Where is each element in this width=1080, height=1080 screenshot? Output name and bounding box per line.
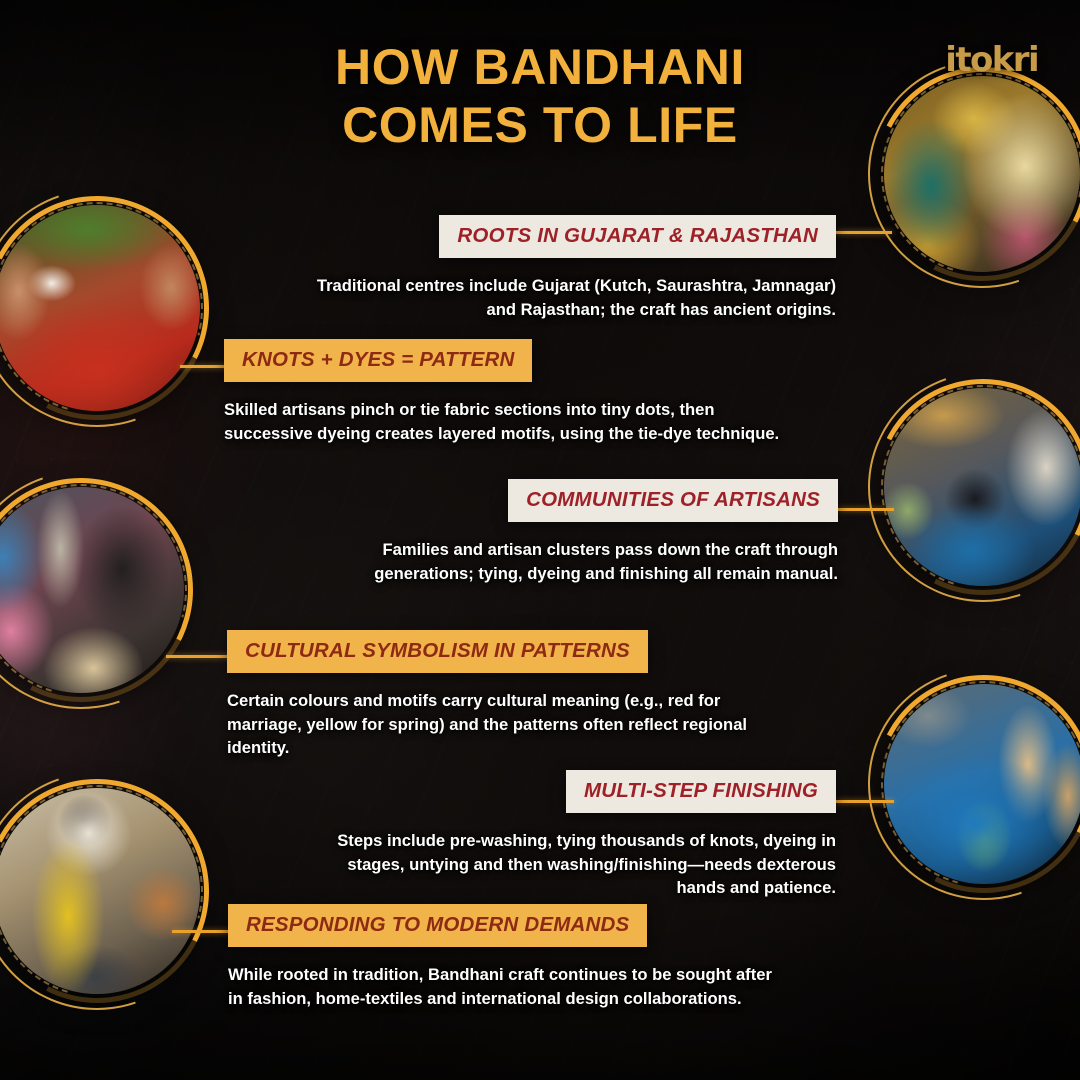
itokri-logo[interactable]: itokri xyxy=(945,40,1038,80)
logo-wordmark: itokri xyxy=(945,40,1038,80)
photo-disc xyxy=(0,487,184,693)
section-symbolism: CULTURAL SYMBOLISM IN PATTERNS Certain c… xyxy=(227,630,787,760)
photo-women-knotting-cloth-left xyxy=(0,487,184,693)
section-heading-symbolism[interactable]: CULTURAL SYMBOLISM IN PATTERNS xyxy=(227,630,648,673)
photo-hands-tying-red-fabric-left xyxy=(0,205,200,411)
photo-disc xyxy=(0,788,200,994)
photo-image xyxy=(884,684,1080,884)
section-body-knots-dyes: Skilled artisans pinch or tie fabric sec… xyxy=(224,398,784,445)
photo-image xyxy=(0,788,200,994)
connector-roots xyxy=(836,231,892,234)
section-modern-demands: RESPONDING TO MODERN DEMANDS While roote… xyxy=(228,904,788,1010)
section-body-finishing: Steps include pre-washing, tying thousan… xyxy=(310,829,836,900)
section-body-roots: Traditional centres include Gujarat (Kut… xyxy=(300,274,836,321)
photo-disc xyxy=(884,388,1080,586)
connector-symbolism xyxy=(166,655,232,658)
section-heading-communities[interactable]: COMMUNITIES OF ARTISANS xyxy=(508,479,838,522)
section-heading-knots-dyes[interactable]: KNOTS + DYES = PATTERN xyxy=(224,339,532,382)
section-body-communities: Families and artisan clusters pass down … xyxy=(300,538,838,585)
photo-dyer-lifting-yellow-cloth-left xyxy=(0,788,200,994)
section-roots: ROOTS IN GUJARAT & RAJASTHAN Traditional… xyxy=(300,215,836,321)
connector-modern xyxy=(172,930,230,933)
section-body-symbolism: Certain colours and motifs carry cultura… xyxy=(227,689,787,760)
connector-finishing xyxy=(836,800,894,803)
section-body-modern-demands: While rooted in tradition, Bandhani craf… xyxy=(228,963,788,1010)
title-line-2: COMES TO LIFE xyxy=(0,96,1080,154)
section-knots-dyes: KNOTS + DYES = PATTERN Skilled artisans … xyxy=(224,339,784,445)
section-finishing: MULTI-STEP FINISHING Steps include pre-w… xyxy=(310,770,836,900)
section-communities: COMMUNITIES OF ARTISANS Families and art… xyxy=(300,479,838,585)
photo-image xyxy=(884,388,1080,586)
photo-disc xyxy=(0,205,200,411)
title-line-1: HOW BANDHANI xyxy=(0,38,1080,96)
photo-disc xyxy=(884,684,1080,884)
photo-image xyxy=(0,487,184,693)
photo-artisan-dyeing-vat-right xyxy=(884,388,1080,586)
connector-communities xyxy=(838,508,894,511)
page-title: HOW BANDHANI COMES TO LIFE xyxy=(0,38,1080,154)
infographic-poster: itokri HOW BANDHANI COMES TO LIFE xyxy=(0,0,1080,1080)
section-heading-roots[interactable]: ROOTS IN GUJARAT & RAJASTHAN xyxy=(439,215,836,258)
section-heading-modern-demands[interactable]: RESPONDING TO MODERN DEMANDS xyxy=(228,904,647,947)
photo-image xyxy=(0,205,200,411)
section-heading-finishing[interactable]: MULTI-STEP FINISHING xyxy=(566,770,836,813)
photo-gloved-hands-blue-dye-right xyxy=(884,684,1080,884)
